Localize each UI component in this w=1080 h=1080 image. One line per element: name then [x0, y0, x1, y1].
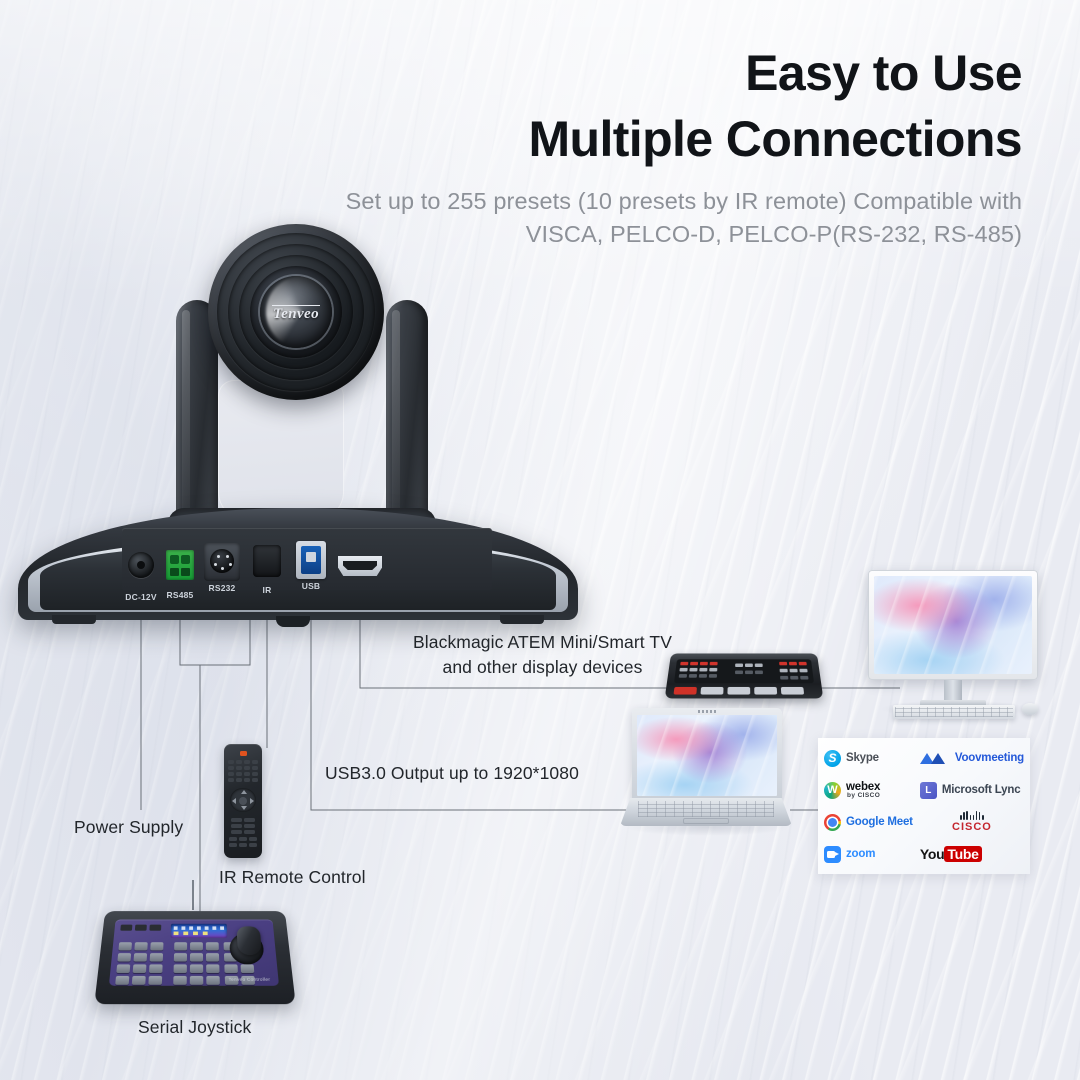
ir-remote-control — [224, 744, 262, 858]
app-webex: webex by CISCO — [824, 781, 920, 799]
atem-button-deck — [674, 659, 814, 683]
chrome-icon — [824, 814, 841, 831]
remote-dpad-ok-button — [239, 797, 247, 805]
serial-joystick-controller: Tenveo Controller — [100, 905, 290, 1005]
joystick-keypad-left — [115, 942, 163, 985]
port-label-rs232: RS232 — [209, 583, 236, 593]
atem-auto-button — [700, 687, 723, 695]
app-label-zoom: zoom — [846, 848, 875, 860]
joystick-stick-knob — [236, 926, 262, 955]
remote-dpad-left-icon — [232, 798, 236, 804]
brand-logo: Tenveo — [208, 306, 384, 323]
port-ir-receiver[interactable]: IR — [253, 545, 281, 577]
port-label-rs485: RS485 — [167, 590, 194, 600]
usb-inner — [301, 546, 321, 574]
monitor-bezel — [868, 570, 1038, 680]
atem-record-button — [754, 687, 777, 695]
laptop-base — [620, 798, 792, 826]
app-label-cisco: CISCO — [952, 821, 992, 833]
rs485-hole-left — [170, 568, 179, 576]
atem-transition-buttons — [674, 687, 805, 695]
remote-dpad-right-icon — [250, 798, 254, 804]
compatible-software-card: Skype Voovmeeting webex by CISCO Microso… — [818, 738, 1030, 874]
port-label-usb: USB — [302, 581, 321, 591]
callout-atem: Blackmagic ATEM Mini/Smart TV and other … — [413, 630, 672, 680]
remote-dpad-up-icon — [241, 790, 247, 794]
atem-button-row-mid-2 — [735, 671, 763, 675]
zoom-icon — [824, 846, 841, 863]
joystick-lcd-display — [171, 924, 228, 938]
app-label-skype: Skype — [846, 752, 879, 764]
laptop-lid — [632, 708, 782, 802]
atem-button-row-2 — [679, 668, 717, 672]
atem-button-row-3 — [679, 674, 717, 678]
callout-power-supply: Power Supply — [74, 815, 183, 840]
cisco-bars-icon — [960, 811, 983, 820]
app-cisco: CISCO — [920, 811, 1024, 833]
callout-atem-line-2: and other display devices — [413, 655, 672, 680]
callout-usb-output: USB3.0 Output up to 1920*1080 — [325, 761, 579, 786]
remote-power-button — [240, 751, 247, 756]
atem-button-row-1 — [680, 662, 717, 665]
webex-icon — [824, 782, 841, 799]
voovmeeting-icon — [920, 751, 950, 766]
laptop-webcam — [698, 710, 716, 713]
app-sublabel-webex: by CISCO — [846, 792, 880, 799]
port-label-dc-12v: DC-12V — [125, 592, 156, 602]
port-rs485[interactable]: RS485 — [166, 550, 194, 580]
app-zoom: zoom — [824, 846, 920, 863]
atem-mini-switcher — [668, 650, 820, 700]
keyboard — [893, 705, 1015, 719]
app-google-meet: Google Meet — [824, 814, 920, 831]
laptop-screen-wallpaper — [637, 715, 777, 796]
callout-atem-line-1: Blackmagic ATEM Mini/Smart TV — [413, 630, 672, 655]
app-label-google-meet: Google Meet — [846, 816, 913, 828]
callout-serial-joystick: Serial Joystick — [138, 1015, 251, 1040]
rs232-pin-5 — [221, 567, 224, 570]
camera-foot-right — [500, 615, 544, 624]
app-label-microsoft-lync: Microsoft Lync — [942, 784, 1021, 796]
atem-button-row-mid-1 — [735, 664, 763, 667]
brand-logo-text: Tenveo — [272, 305, 320, 322]
callout-ir-remote: IR Remote Control — [219, 865, 366, 890]
remote-keys-row-b — [228, 818, 258, 834]
mouse — [1022, 703, 1038, 715]
port-hdmi[interactable]: HDMI — [338, 556, 382, 576]
rs232-pin-3 — [214, 563, 217, 566]
atem-body — [665, 653, 824, 698]
rs485-screw-right — [181, 555, 190, 564]
rs232-pin-2 — [226, 555, 229, 558]
app-label-youtube-you: You — [920, 846, 945, 862]
atem-button-row-right-3 — [780, 676, 808, 680]
joystick-brand-mark: Tenveo Controller — [228, 977, 270, 982]
promo-infographic: Easy to Use Multiple Connections Set up … — [0, 0, 1080, 1080]
laptop-keyboard — [638, 801, 774, 817]
port-rs232[interactable]: RS232 — [204, 543, 240, 581]
cisco-logo: CISCO — [920, 811, 1024, 833]
camera-yoke-opening — [218, 380, 344, 520]
port-label-ir: IR — [263, 585, 272, 595]
joystick-shell: Tenveo Controller — [94, 911, 295, 1004]
monitor-screen-wallpaper — [874, 576, 1032, 674]
rs485-hole-right — [181, 568, 190, 576]
camera-base-notch — [276, 616, 310, 627]
remote-keys-row-c — [228, 837, 258, 847]
joystick-keypad-center — [173, 942, 220, 985]
monitor-stand-neck — [944, 680, 962, 702]
remote-dpad-down-icon — [241, 806, 247, 810]
laptop — [620, 708, 792, 826]
microsoft-lync-icon — [920, 782, 937, 799]
rs485-screw-left — [170, 555, 179, 564]
app-skype: Skype — [824, 750, 920, 767]
app-label-voovmeeting: Voovmeeting — [955, 752, 1024, 764]
laptop-trackpad — [683, 818, 729, 824]
port-usb-b[interactable]: USB — [296, 541, 326, 579]
app-label-youtube-tube: Tube — [944, 846, 981, 862]
app-voovmeeting: Voovmeeting — [920, 751, 1024, 766]
smart-tv-monitor — [868, 570, 1038, 680]
joystick-face: Tenveo Controller — [109, 920, 279, 986]
app-microsoft-lync: Microsoft Lync — [920, 782, 1024, 799]
atem-fade-button — [727, 687, 750, 695]
app-youtube: You Tube — [920, 846, 1024, 862]
rs232-pin-1 — [217, 555, 220, 558]
remote-dpad — [228, 786, 258, 814]
joystick-top-buttons — [120, 925, 161, 931]
skype-icon — [824, 750, 841, 767]
port-dc-12v[interactable]: DC-12V — [128, 552, 154, 578]
atem-extra-button — [781, 687, 804, 695]
atem-button-row-right-1 — [779, 662, 807, 665]
remote-keys-row-a — [228, 760, 258, 782]
camera-lens-housing: Tenveo — [208, 224, 384, 400]
camera-foot-left — [52, 615, 96, 624]
rs232-pin-4 — [229, 563, 232, 566]
atem-cut-button — [674, 687, 697, 695]
atem-button-row-right-2 — [780, 669, 808, 673]
